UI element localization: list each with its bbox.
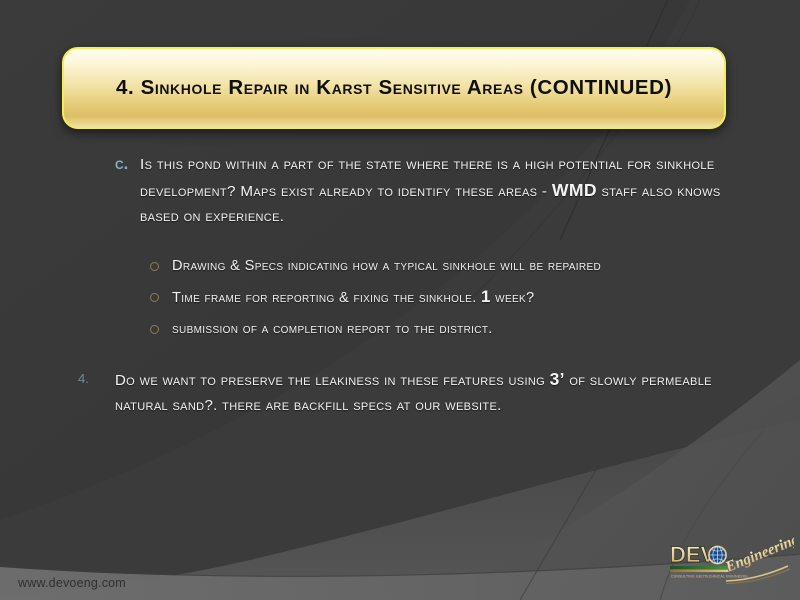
bullet-marker-c: c. [115, 152, 128, 177]
circle-bullet-icon [150, 293, 159, 302]
page-title: 4. Sinkhole Repair in Karst Sensitive Ar… [98, 77, 690, 100]
circle-bullet-icon [150, 262, 159, 271]
bullet-text-c: Is this pond within a part of the state … [140, 156, 721, 225]
sub-bullet-text-2-part2: week? [491, 290, 535, 306]
list-item: submission of a completion report to the… [0, 317, 800, 341]
sub-bullet-list: Drawing & Specs indicating how a typical… [0, 254, 800, 341]
presentation-slide: 4. Sinkhole Repair in Karst Sensitive Ar… [0, 0, 800, 600]
devo-engineering-logo: DEV CONSULTING GEOTECHNICAL ENGINEERS En… [666, 536, 794, 594]
sub-bullet-text-2-part1: Time frame for reporting & fixing the si… [172, 290, 481, 306]
bullet-text-4: Do we want to preserve the leakiness in … [115, 372, 712, 414]
bullet-text-c-emphasis: WMD [552, 180, 597, 200]
sub-bullet-text-2-emphasis: 1 [481, 287, 491, 306]
slide-body: c. Is this pond within a part of the sta… [0, 152, 800, 418]
list-item: Drawing & Specs indicating how a typical… [0, 254, 800, 278]
list-item: Time frame for reporting & fixing the si… [0, 285, 800, 310]
bullet-marker-4: 4. [78, 367, 89, 391]
logo-tagline: CONSULTING GEOTECHNICAL ENGINEERS [671, 575, 748, 579]
bullet-text-4-emphasis: 3’ [550, 369, 565, 389]
sub-bullet-text-2: Time frame for reporting & fixing the si… [172, 290, 535, 306]
logo-script-text: Engineering [723, 536, 794, 576]
bullet-item-4: 4. Do we want to preserve the leakiness … [0, 367, 800, 418]
bullet-text-4-part1: Do we want to preserve the leakiness in … [115, 372, 550, 389]
sub-bullet-text-3: submission of a completion report to the… [172, 321, 493, 337]
bullet-item-c: c. Is this pond within a part of the sta… [0, 152, 800, 230]
slide-title-plate: 4. Sinkhole Repair in Karst Sensitive Ar… [62, 47, 726, 129]
sub-bullet-text-1: Drawing & Specs indicating how a typical… [172, 258, 601, 274]
circle-bullet-icon [150, 325, 159, 334]
footer-website-url: www.devoeng.com [18, 576, 126, 590]
